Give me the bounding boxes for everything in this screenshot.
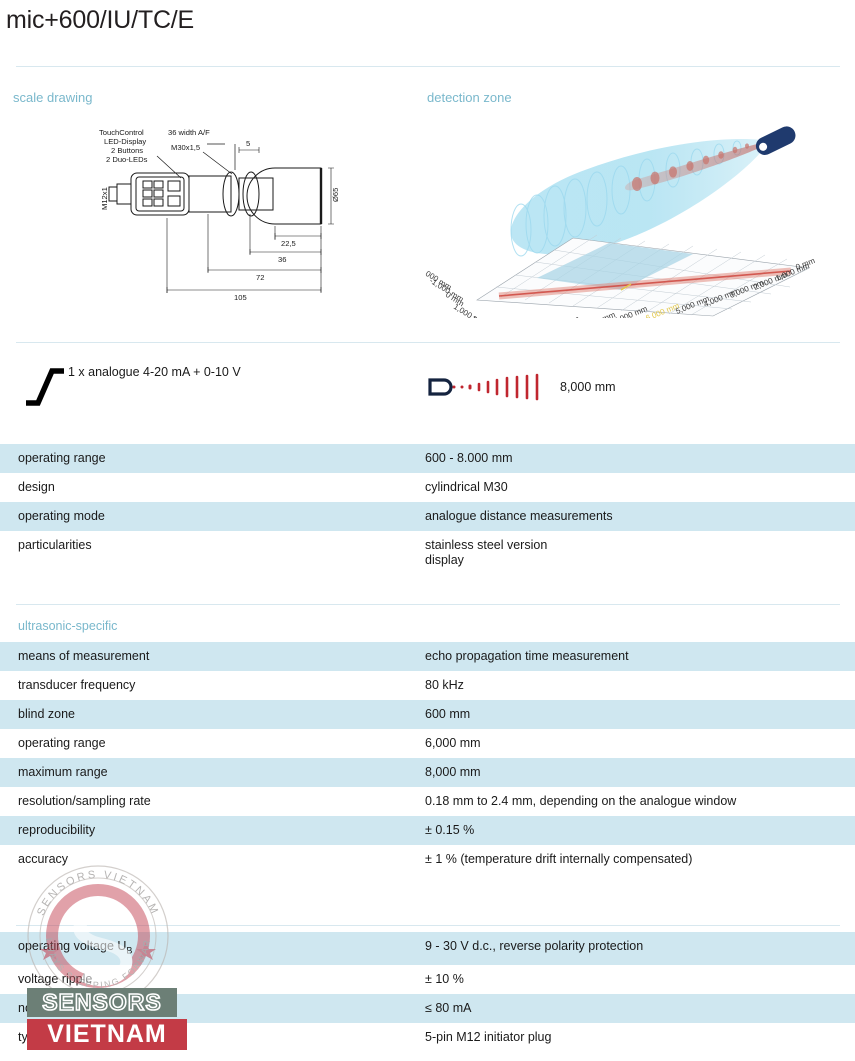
table-row: designcylindrical M30 [0,473,855,502]
spec-value: 0.18 mm to 2.4 mm, depending on the anal… [425,794,855,809]
spec-value: ± 10 % [425,972,855,987]
spec-label: voltage ripple [0,972,425,987]
spec-label: no-load current consumption [0,1001,425,1016]
spec-value: cylindrical M30 [425,480,855,495]
annotation-buttons: 2 Buttons [111,146,143,155]
table-row: means of measurementecho propagation tim… [0,642,855,671]
annotation-m30: M30x1,5 [171,143,200,152]
table-row: particularitiesstainless steel version d… [0,531,855,574]
annotation-width-af: 36 width A/F [168,128,210,137]
datasheet-page: mic+600/IU/TC/E scale drawing detection … [0,0,855,1061]
spec-value: 600 mm [425,707,855,722]
annotation-led-display: LED-Display [104,137,146,146]
spec-value: 5-pin M12 initiator plug [425,1030,855,1045]
svg-text:1,000 mm: 1,000 mm [452,302,487,318]
header-divider [16,66,840,67]
ultrasonic-section-divider [16,604,840,605]
spec-value: analogue distance measurements [425,509,855,524]
table-row: maximum range8,000 mm [0,758,855,787]
spec-value: 80 kHz [425,678,855,693]
spec-value: echo propagation time measurement [425,649,855,664]
spec-label-subscript: B [126,946,132,956]
spec-label: operating range [0,736,425,751]
spec-label: particularities [0,538,425,553]
spec-label: operating voltage UB [0,939,425,959]
table-row: voltage ripple± 10 % [0,965,855,994]
table-row: operating modeanalogue distance measurem… [0,502,855,531]
analogue-ramp-icon [22,363,66,407]
spec-value: 9 - 30 V d.c., reverse polarity protecti… [425,939,855,954]
feature-analogue-output: 1 x analogue 4-20 mA + 0-10 V [22,365,241,379]
annotation-duo-leds: 2 Duo-LEDs [106,155,148,164]
spec-value: 8,000 mm [425,765,855,780]
spec-label: type of connection [0,1030,425,1045]
spec-label: operating mode [0,509,425,524]
spec-label: operating range [0,451,425,466]
spec-value: 600 - 8.000 mm [425,451,855,466]
table-row: operating range600 - 8.000 mm [0,444,855,473]
table-row: blind zone600 mm [0,700,855,729]
detection-zone-svg: 0 mm 1,000 mm 2,000 mm 3,000 mm 4,000 mm… [425,118,835,318]
scale-drawing-label: scale drawing [13,90,93,105]
sensor-capsule [753,123,799,158]
spec-label: transducer frequency [0,678,425,693]
spec-value: ± 1 % (temperature drift internally comp… [425,852,855,867]
spec-label: maximum range [0,765,425,780]
annotation-36: 36 [278,255,286,264]
annotation-5: 5 [246,139,250,148]
detection-zone-figure: 0 mm 1,000 mm 2,000 mm 3,000 mm 4,000 mm… [425,118,835,318]
electrical-specifications-table: operating voltage UB9 - 30 V d.c., rever… [0,932,855,1052]
range-label: 8,000 mm [560,380,616,394]
spec-label: accuracy [0,852,425,867]
spec-value: ≤ 80 mA [425,1001,855,1016]
ultrasonic-section-heading: ultrasonic-specific [18,619,117,633]
seal-top-text: SENSORS VIETNAM [35,869,161,918]
scale-drawing-svg: TouchControl LED-Display 2 Buttons 2 Duo… [95,118,355,313]
spec-label: resolution/sampling rate [0,794,425,809]
table-row: resolution/sampling rate0.18 mm to 2.4 m… [0,787,855,816]
spec-label: blind zone [0,707,425,722]
spec-label: means of measurement [0,649,425,664]
annotation-225: 22,5 [281,239,296,248]
range-waves-icon [428,372,546,402]
detection-zone-label: detection zone [427,90,512,105]
features-divider [16,342,840,343]
svg-text:2,000 mm: 2,000 mm [470,314,505,318]
annotation-m12: M12x1 [100,187,109,210]
analogue-output-label: 1 x analogue 4-20 mA + 0-10 V [68,365,241,379]
page-title: mic+600/IU/TC/E [6,6,194,35]
ultrasonic-specifications-table: means of measurementecho propagation tim… [0,642,855,874]
annotation-72: 72 [256,273,264,282]
table-row: type of connection5-pin M12 initiator pl… [0,1023,855,1052]
annotation-touchcontrol: TouchControl [99,128,144,137]
table-row: operating voltage UB9 - 30 V d.c., rever… [0,932,855,965]
spec-label: reproducibility [0,823,425,838]
table-row: no-load current consumption≤ 80 mA [0,994,855,1023]
spec-label: design [0,480,425,495]
spec-value: ± 0.15 % [425,823,855,838]
general-specifications-table: operating range600 - 8.000 mmdesigncylin… [0,444,855,574]
feature-range: 8,000 mm [428,372,616,402]
spec-value: stainless steel version display [425,538,855,568]
svg-text:9,000 mm: 9,000 mm [544,314,581,318]
svg-text:8,000 mm: 8,000 mm [580,310,617,318]
table-row: accuracy± 1 % (temperature drift interna… [0,845,855,874]
annotation-105: 105 [234,293,247,302]
annotation-diameter65: Ø65 [331,188,340,202]
table-row: transducer frequency80 kHz [0,671,855,700]
electrical-section-divider [16,925,840,926]
table-row: operating range6,000 mm [0,729,855,758]
spec-value: 6,000 mm [425,736,855,751]
scale-drawing-figure: TouchControl LED-Display 2 Buttons 2 Duo… [95,118,355,313]
table-row: reproducibility± 0.15 % [0,816,855,845]
